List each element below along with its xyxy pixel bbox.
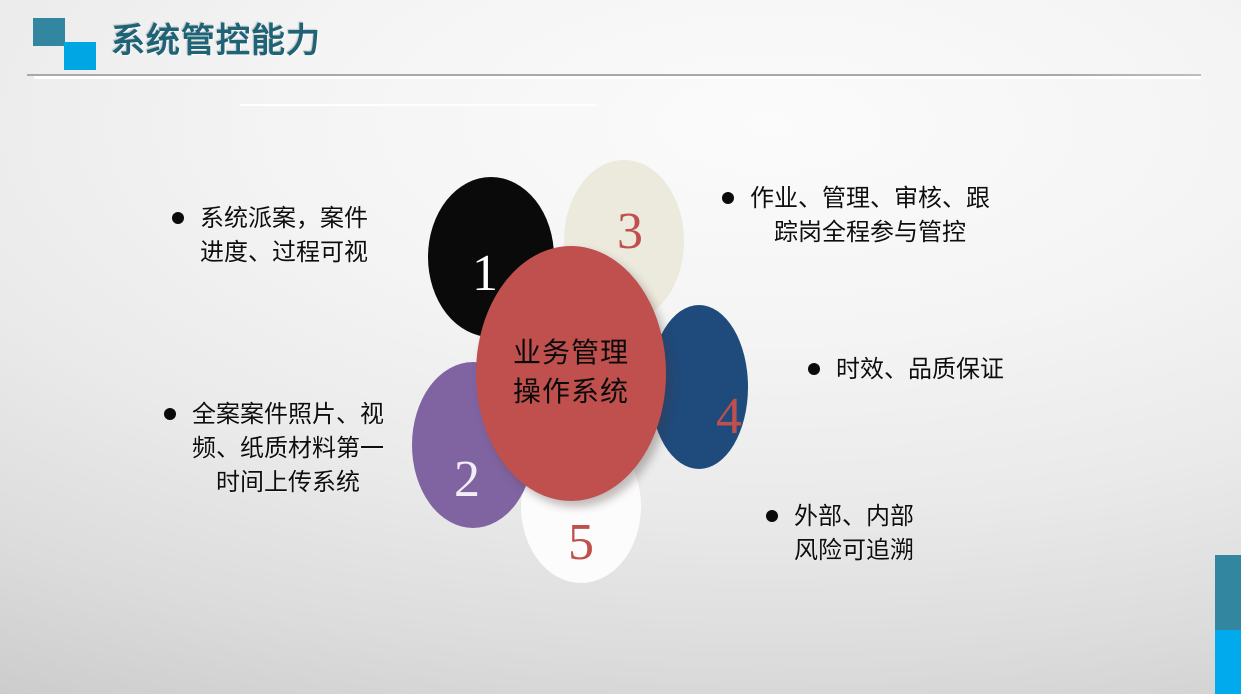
- petal-number-3: 3: [617, 206, 643, 258]
- bullet-dot-icon: [766, 510, 778, 522]
- callout-2-text: 全案案件照片、视 频、纸质材料第一 时间上传系统: [192, 398, 384, 500]
- callout-3: 作业、管理、审核、跟 踪岗全程参与管控: [722, 182, 1052, 250]
- callout-4-text: 时效、品质保证: [836, 353, 1004, 387]
- petal-number-4: 4: [716, 391, 742, 443]
- center-label-line1: 业务管理: [513, 335, 629, 373]
- bullet-dot-icon: [164, 408, 176, 420]
- edge-block-cyan: [1215, 630, 1241, 694]
- edge-block-teal: [1215, 555, 1241, 630]
- callout-5: 外部、内部 风险可追溯: [766, 500, 996, 568]
- petal-number-1: 1: [472, 248, 498, 300]
- center-ellipse[interactable]: 业务管理 操作系统: [476, 246, 666, 501]
- bullet-dot-icon: [172, 212, 184, 224]
- callout-4: 时效、品质保证: [808, 353, 1058, 387]
- callout-1-text: 系统派案，案件 进度、过程可视: [200, 202, 368, 270]
- petal-diagram: 1 3 2 4 5 业务管理 操作系统: [0, 0, 1241, 694]
- bullet-dot-icon: [722, 192, 734, 204]
- center-label-line2: 操作系统: [513, 374, 629, 412]
- callout-2: 全案案件照片、视 频、纸质材料第一 时间上传系统: [164, 398, 426, 500]
- callout-1: 系统派案，案件 进度、过程可视: [172, 202, 422, 270]
- petal-number-5: 5: [568, 517, 594, 569]
- petal-number-2: 2: [454, 454, 480, 506]
- callout-3-text: 作业、管理、审核、跟 踪岗全程参与管控: [750, 182, 990, 250]
- callout-5-text: 外部、内部 风险可追溯: [794, 500, 914, 568]
- bullet-dot-icon: [808, 363, 820, 375]
- slide-canvas: 系统管控能力 1 3 2 4 5 业务管理 操作系统 系统派案，案件 进度、过程…: [0, 0, 1241, 694]
